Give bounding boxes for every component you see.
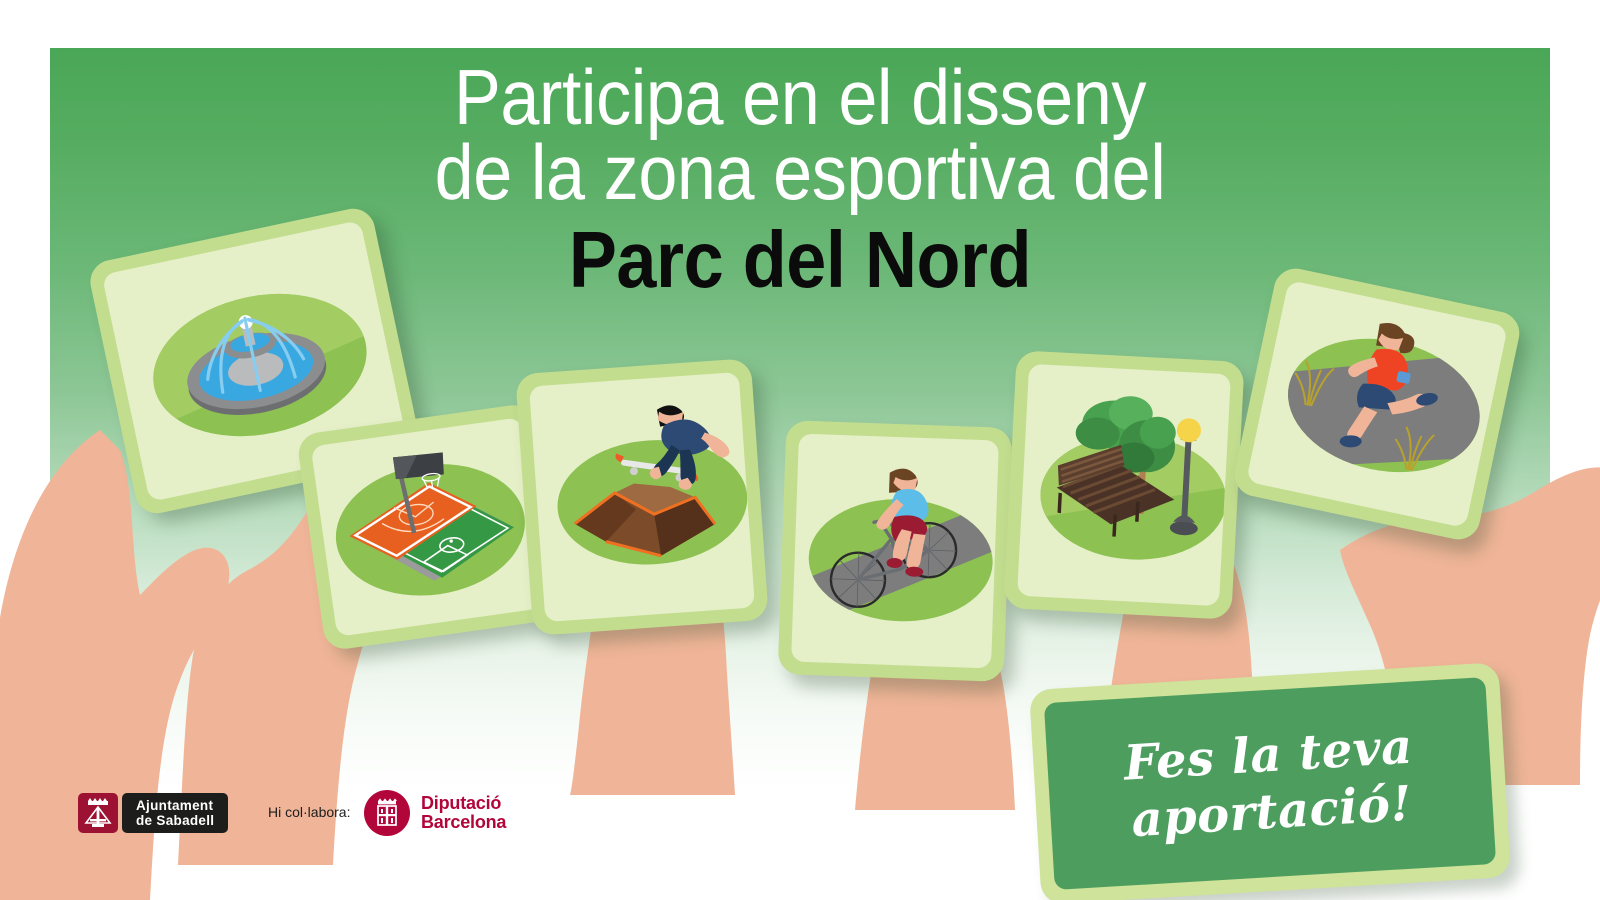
card-skate[interactable] (515, 358, 769, 636)
bike-lane-icon (791, 434, 999, 669)
cta-box[interactable]: Fes la teva aportació! (1029, 662, 1511, 900)
card-bench[interactable] (1003, 350, 1244, 620)
card-skate-face (529, 372, 755, 622)
diputacio-name: Diputació Barcelona (421, 794, 506, 832)
diputacio-line-2: Barcelona (421, 813, 506, 832)
diputacio-crest-icon (364, 790, 410, 836)
card-courts-face (311, 417, 548, 637)
diputacio-barcelona-logo[interactable]: Diputació Barcelona (364, 790, 506, 836)
sabadell-crest-icon (78, 793, 118, 833)
card-bike[interactable] (778, 420, 1013, 682)
diputacio-line-1: Diputació (421, 794, 506, 813)
poster-canvas: Participa en el disseny de la zona espor… (0, 0, 1600, 900)
ajuntament-line-1: Ajuntament (136, 798, 214, 813)
ajuntament-line-2: de Sabadell (136, 813, 214, 828)
skatepark-icon (529, 372, 755, 622)
card-bench-face (1017, 364, 1231, 606)
ajuntament-sabadell-logo[interactable]: Ajuntament de Sabadell (78, 793, 228, 833)
cta-inner: Fes la teva aportació! (1044, 677, 1496, 890)
park-bench-icon (1017, 364, 1231, 606)
collaborator-label: Hi col·labora: (268, 804, 350, 820)
sports-courts-icon (311, 417, 548, 637)
ajuntament-sabadell-name: Ajuntament de Sabadell (122, 793, 228, 833)
running-track-icon (1246, 280, 1508, 528)
card-running-face (1246, 280, 1508, 528)
footer: Ajuntament de Sabadell Hi col·labora: (0, 788, 1600, 858)
card-bike-face (791, 434, 999, 669)
